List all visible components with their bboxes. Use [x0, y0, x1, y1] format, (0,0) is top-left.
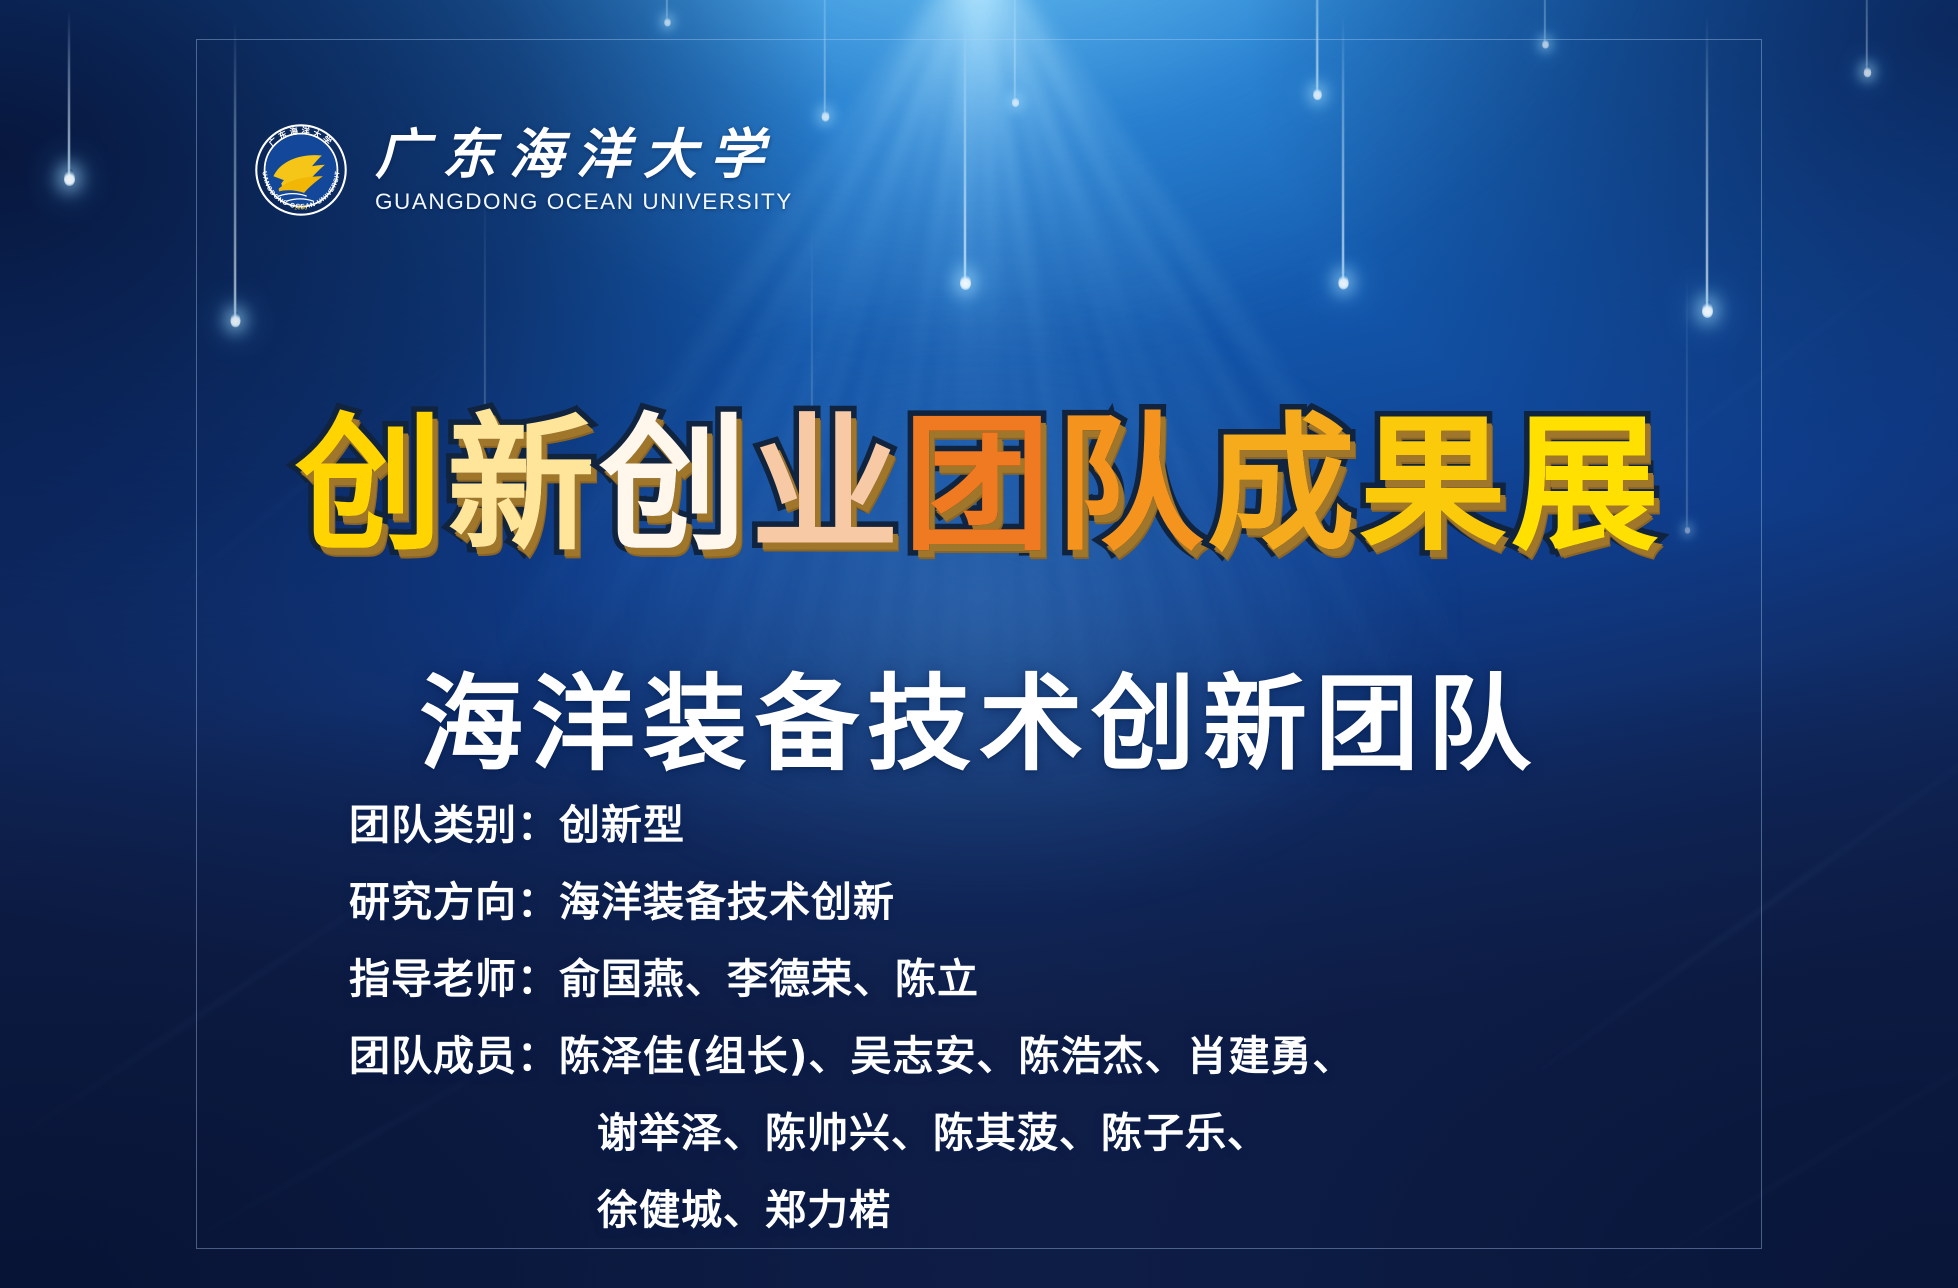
light-particle-head [1338, 273, 1348, 289]
light-particle-tail [1014, 0, 1015, 102]
main-title-char: 新 [447, 411, 599, 559]
university-name-en: GUANGDONG OCEAN UNIVERSITY [375, 190, 793, 215]
light-particle [660, 0, 674, 30]
info-row-members: 团队成员： 陈泽佳(组长)、吴志安、陈浩杰、肖建勇、 [349, 1018, 1354, 1095]
light-particle-tail [1866, 0, 1867, 72]
university-seal-icon: 广东海洋大学 GUANGDONG OCEAN UNIVERSITY 1935 [249, 118, 353, 222]
light-particle-tail [1706, 14, 1708, 310]
main-title-char: 成 [1207, 411, 1359, 559]
info-row-category: 团队类别： 创新型 [349, 787, 1354, 864]
info-value-research-direction: 海洋装备技术创新 [559, 864, 895, 941]
info-label-advisors: 指导老师： [349, 941, 559, 1018]
main-title-char: 队 [1055, 411, 1207, 559]
light-particle [1538, 0, 1552, 52]
light-particle-tail [964, 20, 966, 282]
light-particle [1310, 0, 1324, 102]
light-particle-head [64, 169, 75, 186]
info-value-category: 创新型 [559, 787, 685, 864]
light-particle [1336, 4, 1350, 290]
main-title-char: 展 [1511, 411, 1663, 559]
main-title-char: 创 [599, 411, 751, 559]
light-particle [818, 0, 832, 124]
poster-canvas: 广东海洋大学 GUANGDONG OCEAN UNIVERSITY 1935 广… [0, 0, 1958, 1288]
university-logo-lockup: 广东海洋大学 GUANGDONG OCEAN UNIVERSITY 1935 广… [249, 118, 793, 222]
light-particle-head [1702, 301, 1713, 318]
team-name-subtitle: 海洋装备技术创新团队 [0, 639, 1958, 790]
light-particle [228, 10, 242, 328]
light-particle-tail [234, 20, 236, 320]
team-info-block: 团队类别： 创新型 研究方向： 海洋装备技术创新 指导老师： 俞国燕、李德荣、陈… [349, 787, 1354, 1249]
light-particle-head [230, 312, 240, 328]
light-particle-head [821, 109, 829, 121]
light-particle-head [664, 16, 671, 26]
info-members-line-2: 谢举泽、陈帅兴、陈其菠、陈子乐、 [349, 1095, 1354, 1172]
light-particle [958, 10, 972, 290]
light-particle-head [1313, 87, 1322, 101]
light-particle-tail [824, 0, 825, 116]
light-particle-tail [1342, 14, 1344, 282]
info-label-category: 团队类别： [349, 787, 559, 864]
main-title-char: 团 [903, 411, 1055, 559]
info-value-members: 陈泽佳(组长)、吴志安、陈浩杰、肖建勇、 [559, 1018, 1354, 1095]
main-title: 创新创业团队成果展 [0, 411, 1958, 559]
light-particle-head [960, 273, 971, 290]
main-title-char: 果 [1359, 411, 1511, 559]
info-value-advisors: 俞国燕、李德荣、陈立 [559, 941, 979, 1018]
info-row-research-direction: 研究方向： 海洋装备技术创新 [349, 864, 1354, 941]
info-members-line-3: 徐健城、郑力楉 [349, 1172, 1354, 1249]
main-title-char: 业 [751, 411, 903, 559]
university-name-cn: 广东海洋大学 [375, 127, 793, 184]
light-particle [1700, 4, 1714, 318]
light-particle-tail [1316, 0, 1318, 94]
light-particle-head [1863, 66, 1871, 78]
info-label-members: 团队成员： [349, 1018, 559, 1095]
svg-text:1935: 1935 [294, 206, 308, 212]
light-particle [1008, 0, 1022, 110]
light-particle-head [1011, 96, 1018, 107]
light-particle [62, 0, 76, 186]
main-title-char: 创 [295, 411, 447, 559]
university-name-block: 广东海洋大学 GUANGDONG OCEAN UNIVERSITY [375, 125, 793, 215]
light-particle-head [1542, 38, 1549, 49]
info-label-research-direction: 研究方向： [349, 864, 559, 941]
light-particle [1860, 0, 1874, 80]
light-particle-tail [68, 10, 70, 178]
info-row-advisors: 指导老师： 俞国燕、李德荣、陈立 [349, 941, 1354, 1018]
